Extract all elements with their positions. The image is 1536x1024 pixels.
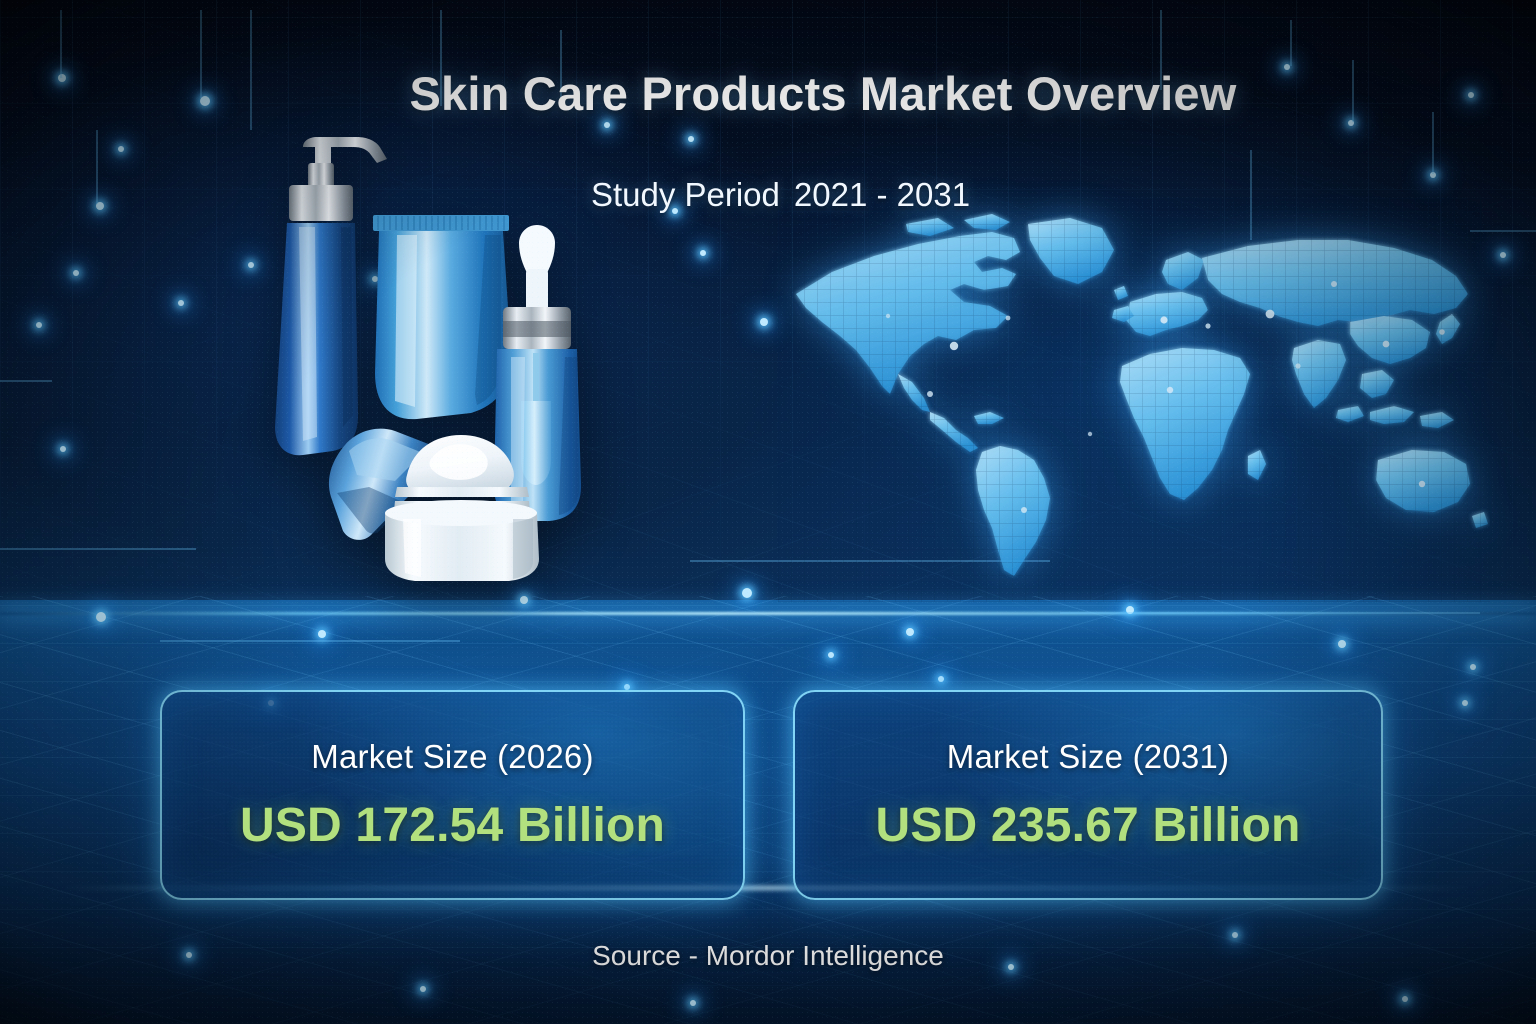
glow-dot: [1462, 700, 1468, 706]
glow-dot: [938, 676, 944, 682]
glow-dot: [73, 270, 79, 276]
glow-dot: [690, 1000, 696, 1006]
glow-dot: [688, 136, 694, 142]
circuit-line: [160, 640, 460, 642]
glow-dot: [96, 612, 106, 622]
source-note: Source - Mordor Intelligence: [0, 940, 1536, 972]
glow-dot: [118, 146, 124, 152]
glow-dot: [1338, 640, 1346, 648]
study-period: Study Period2021 - 2031: [0, 176, 1536, 214]
stat-label: Market Size (2031): [947, 738, 1229, 776]
glow-dot: [742, 588, 752, 598]
circuit-line: [1060, 612, 1480, 614]
circuit-line: [1290, 20, 1292, 66]
glow-dot: [60, 446, 66, 452]
page-title: Skin Care Products Market Overview: [0, 66, 1536, 121]
glow-dot: [1126, 606, 1134, 614]
glow-dot: [178, 300, 184, 306]
glow-dot: [906, 628, 914, 636]
glow-dot: [700, 250, 706, 256]
glow-dot: [318, 630, 326, 638]
glow-dot: [420, 986, 426, 992]
circuit-line: [0, 380, 52, 382]
world-map-icon: [778, 198, 1490, 602]
infographic-canvas: Skin Care Products Market Overview Study…: [0, 0, 1536, 1024]
circuit-line: [0, 548, 196, 550]
circuit-line: [1432, 112, 1434, 174]
stat-label: Market Size (2026): [311, 738, 593, 776]
cream-tube-icon: [373, 215, 511, 419]
glow-dot: [520, 596, 528, 604]
stat-card-market-size-2026[interactable]: Market Size (2026) USD 172.54 Billion: [160, 690, 745, 900]
glow-dot: [760, 318, 768, 326]
stat-value: USD 172.54 Billion: [240, 798, 665, 853]
glow-dot: [828, 652, 834, 658]
study-period-value: 2021 - 2031: [794, 176, 970, 213]
stat-value: USD 235.67 Billion: [875, 798, 1300, 853]
glow-dot: [1500, 252, 1506, 258]
stat-card-market-size-2031[interactable]: Market Size (2031) USD 235.67 Billion: [793, 690, 1383, 900]
study-period-label: Study Period: [591, 176, 780, 213]
glow-dot: [1470, 664, 1476, 670]
glow-dot: [1232, 932, 1238, 938]
glow-dot: [36, 322, 42, 328]
background-horizon-glow: [0, 612, 1536, 615]
glow-dot: [1402, 996, 1408, 1002]
